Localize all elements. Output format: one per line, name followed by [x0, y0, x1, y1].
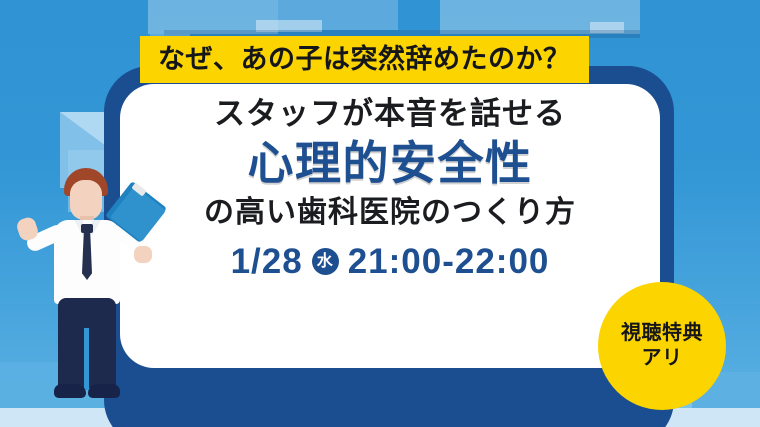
businessman-illustration: [18, 168, 150, 408]
headline-line-3: の高い歯科医院のつくり方: [120, 195, 660, 231]
character-leg-gap: [84, 328, 89, 390]
character-tie: [82, 232, 92, 280]
character-right-hand: [134, 246, 152, 263]
character-collar-right: [92, 220, 101, 236]
schedule-date: 1/28: [231, 241, 303, 283]
hook-banner-text: なぜ、あの子は突然辞めたのか？: [158, 46, 571, 73]
headline-block: スタッフが本音を話せる 心理的安全性 の高い歯科医院のつくり方 1/28 水 2…: [120, 96, 660, 283]
headline-keyword: 心理的安全性: [120, 135, 660, 191]
bonus-badge-line-2: アリ: [642, 347, 683, 370]
headline-line-1: スタッフが本音を話せる: [120, 96, 660, 133]
character-tie-knot: [81, 224, 93, 233]
hook-banner: なぜ、あの子は突然辞めたのか？: [140, 36, 589, 83]
schedule-time: 21:00-22:00: [348, 241, 550, 283]
character-shoe-left: [54, 384, 86, 398]
promo-banner-canvas: なぜ、あの子は突然辞めたのか？ スタッフが本音を話せる 心理的安全性 の高い歯科…: [0, 0, 760, 427]
character-face: [70, 180, 102, 220]
character-shoe-right: [88, 384, 120, 398]
bonus-badge: 視聴特典 アリ: [598, 282, 726, 410]
schedule-line: 1/28 水 21:00-22:00: [120, 241, 660, 283]
schedule-weekday-badge: 水: [312, 248, 339, 275]
bonus-badge-line-1: 視聴特典: [621, 322, 703, 345]
